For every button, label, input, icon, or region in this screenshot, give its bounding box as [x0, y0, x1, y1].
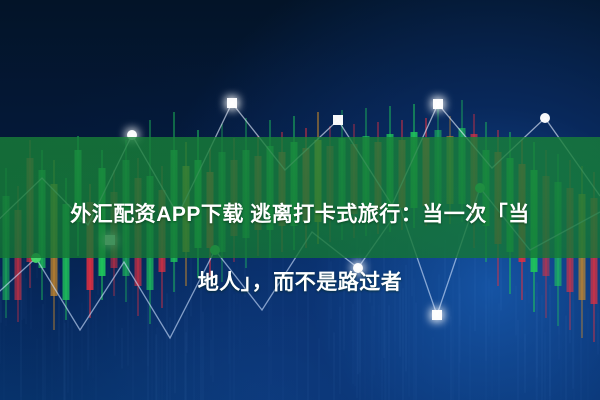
page-title: 外汇配资APP下载 逃离打卡式旅行：当一次「当 地人」，而不是路过者 — [0, 164, 600, 334]
banner-image: 外汇配资APP下载 逃离打卡式旅行：当一次「当 地人」，而不是路过者 — [0, 0, 600, 400]
headline-line-1: 外汇配资APP下载 逃离打卡式旅行：当一次「当 — [0, 198, 600, 232]
headline-line-2: 地人」，而不是路过者 — [0, 266, 600, 300]
